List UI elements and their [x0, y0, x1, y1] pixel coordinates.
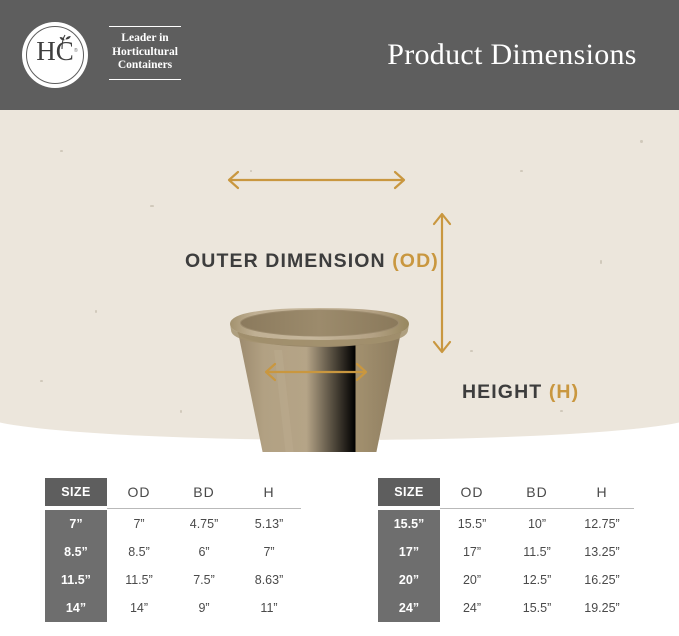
table-row: 14” 14” 9” 11”	[45, 594, 301, 622]
table-row: 17” 17” 11.5” 13.25”	[378, 538, 634, 566]
dimension-arrows	[0, 110, 679, 452]
table-row: 20” 20” 12.5” 16.25”	[378, 566, 634, 594]
size-table-left-grid: SIZE OD BD H 7” 7” 4.75” 5.13”	[45, 478, 301, 622]
col-header-size: SIZE	[45, 478, 107, 506]
cell-od: 24”	[440, 594, 504, 622]
cell-h: 7”	[237, 538, 301, 566]
cell-bd: 4.75”	[171, 510, 237, 538]
brand-logo: HC ®	[22, 22, 88, 88]
cell-size: 17”	[378, 538, 440, 566]
size-table-left: SIZE OD BD H 7” 7” 4.75” 5.13”	[45, 478, 301, 622]
size-table-left-body: 7” 7” 4.75” 5.13” 8.5” 8.5” 6” 7” 11.5” …	[45, 510, 301, 622]
cell-size: 7”	[45, 510, 107, 538]
outer-dimension-arrow	[229, 172, 404, 188]
cell-size: 24”	[378, 594, 440, 622]
brand-tagline: Leader in Horticultural Containers	[100, 26, 190, 80]
cell-bd: 7.5”	[171, 566, 237, 594]
cell-h: 16.25”	[570, 566, 634, 594]
table-row: 7” 7” 4.75” 5.13”	[45, 510, 301, 538]
cell-size: 15.5”	[378, 510, 440, 538]
col-header-h: H	[570, 478, 634, 506]
tagline-line-2: Horticultural	[100, 46, 190, 60]
cell-bd: 6”	[171, 538, 237, 566]
cell-od: 11.5”	[107, 566, 171, 594]
cell-size: 14”	[45, 594, 107, 622]
table-row: 15.5” 15.5” 10” 12.75”	[378, 510, 634, 538]
size-table-right-grid: SIZE OD BD H 15.5” 15.5” 10” 12.75”	[378, 478, 634, 622]
cell-h: 12.75”	[570, 510, 634, 538]
cell-bd: 15.5”	[504, 594, 570, 622]
table-header-row: SIZE OD BD H	[378, 478, 634, 506]
cell-h: 5.13”	[237, 510, 301, 538]
table-row: 24” 24” 15.5” 19.25”	[378, 594, 634, 622]
col-header-size: SIZE	[378, 478, 440, 506]
table-header-row: SIZE OD BD H	[45, 478, 301, 506]
cell-bd: 9”	[171, 594, 237, 622]
logo-monogram: HC	[22, 38, 88, 65]
cell-size: 11.5”	[45, 566, 107, 594]
diagram-panel: OUTER DIMENSION (OD) BASE DIMENSION (BD)…	[0, 110, 679, 452]
cell-od: 14”	[107, 594, 171, 622]
tagline-rule-bottom	[109, 79, 181, 80]
size-table-right: SIZE OD BD H 15.5” 15.5” 10” 12.75”	[378, 478, 634, 622]
col-header-od: OD	[107, 478, 171, 506]
infographic-root: HC ® Leader in Horticultural Containers …	[0, 0, 679, 636]
table-row: 8.5” 8.5” 6” 7”	[45, 538, 301, 566]
col-header-od: OD	[440, 478, 504, 506]
height-arrow	[434, 214, 450, 352]
cell-h: 13.25”	[570, 538, 634, 566]
cell-od: 17”	[440, 538, 504, 566]
base-dimension-arrow	[266, 364, 366, 380]
cell-od: 8.5”	[107, 538, 171, 566]
tagline-rule-top	[109, 26, 181, 27]
tagline-line-1: Leader in	[100, 32, 190, 46]
table-row: 11.5” 11.5” 7.5” 8.63”	[45, 566, 301, 594]
col-header-bd: BD	[504, 478, 570, 506]
cell-od: 15.5”	[440, 510, 504, 538]
cell-h: 11”	[237, 594, 301, 622]
size-table-right-body: 15.5” 15.5” 10” 12.75” 17” 17” 11.5” 13.…	[378, 510, 634, 622]
tagline-line-3: Containers	[100, 59, 190, 73]
cell-size: 8.5”	[45, 538, 107, 566]
cell-od: 20”	[440, 566, 504, 594]
page-title: Product Dimensions	[345, 0, 679, 110]
col-header-h: H	[237, 478, 301, 506]
cell-size: 20”	[378, 566, 440, 594]
cell-bd: 10”	[504, 510, 570, 538]
header-bar: HC ® Leader in Horticultural Containers …	[0, 0, 679, 110]
cell-bd: 12.5”	[504, 566, 570, 594]
col-header-bd: BD	[171, 478, 237, 506]
cell-h: 8.63”	[237, 566, 301, 594]
cell-bd: 11.5”	[504, 538, 570, 566]
cell-od: 7”	[107, 510, 171, 538]
logo-trademark: ®	[74, 48, 78, 54]
cell-h: 19.25”	[570, 594, 634, 622]
